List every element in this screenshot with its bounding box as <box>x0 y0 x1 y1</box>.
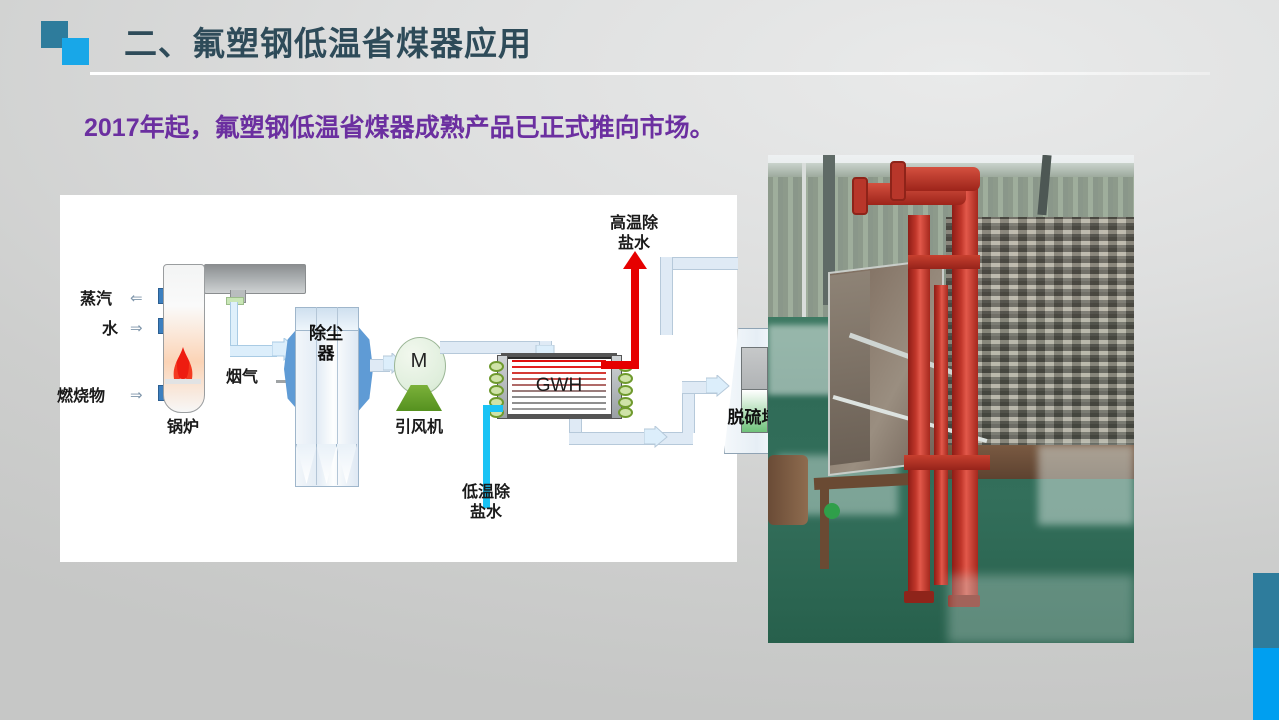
hot-water-line-vertical <box>631 265 639 365</box>
label-boiler: 锅炉 <box>155 417 211 437</box>
photo-casing-panel-inner <box>830 271 870 466</box>
photo-red-column <box>952 177 978 605</box>
flue-duct-vertical <box>230 302 238 348</box>
gwh-bottom-bar <box>501 414 617 419</box>
label-hot-demin-water-line2: 盐水 <box>618 233 650 252</box>
boiler-furnace <box>163 264 205 413</box>
accent-bar-bottom <box>1253 648 1279 720</box>
header-square-light-icon <box>62 38 89 65</box>
photo-column-foot <box>904 591 934 603</box>
photo-red-column <box>908 215 930 595</box>
photo-red-brace <box>908 255 980 269</box>
photo-green-valve <box>824 503 840 519</box>
photo-water-reflection <box>948 575 1134 643</box>
label-cold-demin-water-line1: 低温除 <box>462 482 510 501</box>
header-divider <box>90 72 1210 75</box>
label-water: 水 <box>102 319 118 339</box>
tower-window-upper <box>741 347 768 390</box>
tower-inlet-arrow-icon <box>706 375 730 397</box>
photo-water-reflection <box>1038 445 1134 525</box>
duct-gwh-to-tower <box>569 432 693 445</box>
subtitle-text: 2017年起，氟塑钢低温省煤器成熟产品已正式推向市场。 <box>84 108 715 144</box>
label-fuel: 燃烧物 <box>57 386 105 406</box>
label-hot-demin-water-line1: 高温除 <box>610 213 658 232</box>
photo-bench-leg <box>820 483 829 569</box>
boiler-ash-bed <box>165 379 201 384</box>
accent-bar-top <box>1253 573 1279 648</box>
label-steam: 蒸汽 <box>80 289 112 309</box>
label-economizer: GWH <box>501 375 617 397</box>
slide-root: 二、氟塑钢低温省煤器应用 2017年起，氟塑钢低温省煤器成熟产品已正式推向市场。… <box>0 0 1279 720</box>
label-flue-gas: 烟气 <box>226 367 258 387</box>
photo-pipe-flange <box>852 177 868 215</box>
label-cold-demin-water: 低温除 盐水 <box>448 482 524 522</box>
duct-arrow-icon <box>644 426 668 448</box>
photo-pipe-flange <box>890 161 906 201</box>
hot-water-arrow-icon <box>623 251 647 271</box>
label-hot-demin-water: 高温除 盐水 <box>596 213 672 253</box>
flue-duct-horizontal <box>230 345 277 357</box>
fan-motor-label: M <box>394 350 444 373</box>
photo-red-column <box>934 285 948 585</box>
diagram-panel: 蒸汽 ⇐ 水 ⇒ 燃烧物 ⇒ 锅炉 <box>60 195 737 562</box>
page-title: 二、氟塑钢低温省煤器应用 <box>124 17 532 65</box>
site-photo <box>768 155 1134 643</box>
label-induced-draft-fan: 引风机 <box>390 417 448 437</box>
process-flow-diagram: 蒸汽 ⇐ 水 ⇒ 燃烧物 ⇒ 锅炉 <box>60 195 737 562</box>
label-cold-demin-water-line2: 盐水 <box>470 502 502 521</box>
flame-icon <box>168 345 198 381</box>
boiler-drum <box>204 264 306 294</box>
photo-tank <box>768 455 808 525</box>
photo-red-brace <box>904 455 990 470</box>
label-dust-collector: 除尘器 <box>308 325 344 364</box>
